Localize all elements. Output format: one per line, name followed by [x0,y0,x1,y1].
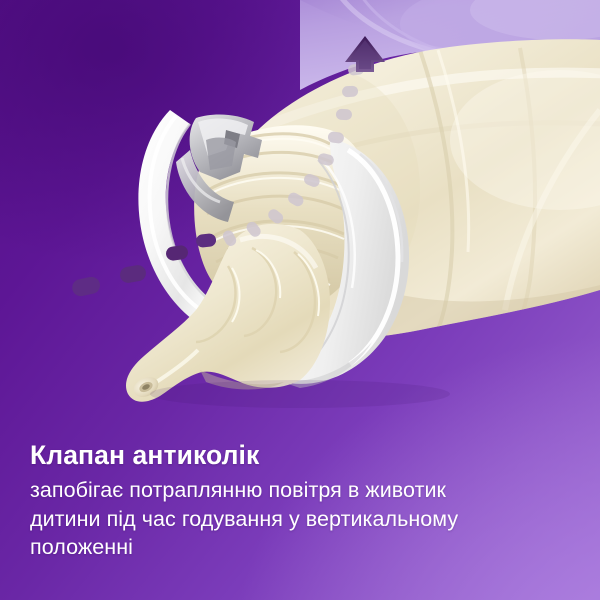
body-line-2: дитини під час годування у вертикальному [30,505,580,534]
body-line-1: запобігає потраплянню повітря в животик [30,476,580,505]
body-copy: запобігає потраплянню повітря в животик … [30,476,580,562]
promo-banner: Клапан антиколік запобігає потраплянню п… [0,0,600,600]
headline: Клапан антиколік [30,440,580,471]
body-line-3: положенні [30,533,580,562]
copy-block: Клапан антиколік запобігає потраплянню п… [30,440,580,562]
product-illustration [0,0,600,440]
